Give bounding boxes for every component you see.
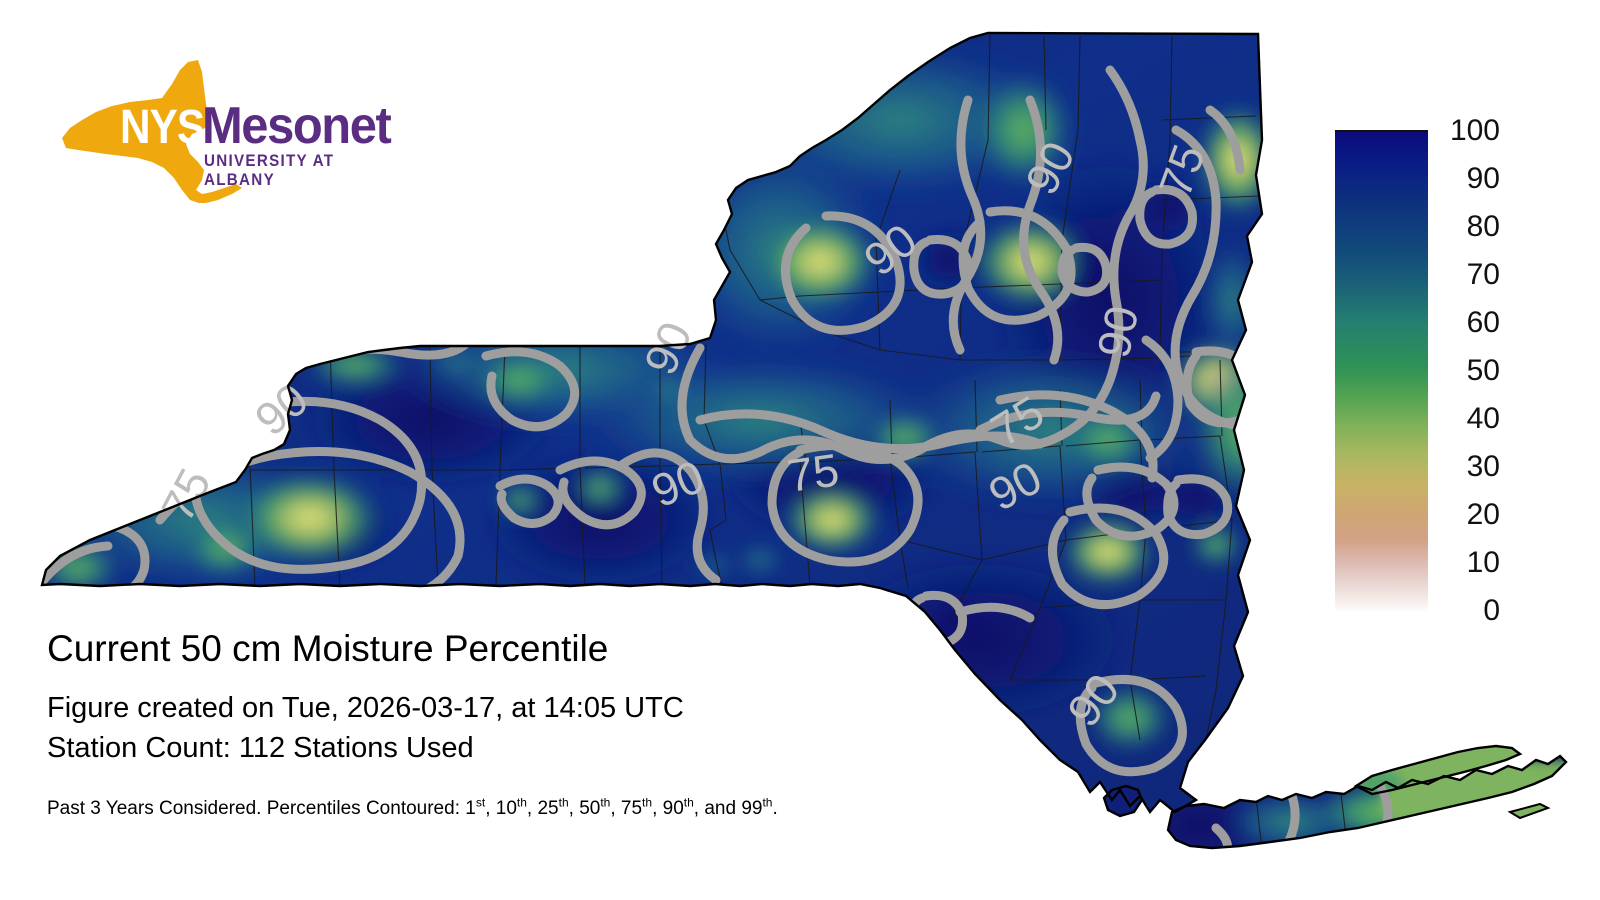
percentile-level-suffix: th	[684, 796, 694, 810]
percentile-level: 50	[579, 798, 600, 819]
caption-block: Current 50 cm Moisture Percentile Figure…	[47, 626, 1027, 822]
percentile-level-suffix: th	[559, 796, 569, 810]
percentile-level-suffix: th	[600, 796, 610, 810]
colorbar-tick: 100	[1434, 116, 1500, 146]
contour-note-prefix: Past 3 Years Considered. Percentiles Con…	[47, 798, 465, 819]
percentile-level-suffix: st	[476, 796, 485, 810]
colorbar-tick: 80	[1434, 212, 1500, 242]
colorbar-tick: 50	[1434, 356, 1500, 386]
offshore-island	[1510, 804, 1548, 818]
logo-subtitle: UNIVERSITY AT ALBANY	[204, 152, 395, 190]
percentile-level: 99	[741, 798, 762, 819]
percentile-level-suffix: th	[762, 796, 772, 810]
percentile-level-suffix: th	[642, 796, 652, 810]
percentile-level: 10	[496, 798, 517, 819]
figure-title: Current 50 cm Moisture Percentile	[47, 626, 1027, 672]
logo-word-nys: NYS	[120, 100, 204, 155]
figure-created-line: Figure created on Tue, 2026-03-17, at 14…	[47, 688, 1027, 728]
colorbar-gradient	[1335, 130, 1428, 612]
colorbar-tick: 30	[1434, 452, 1500, 482]
figure-canvas: 90 75 90 75 90 90 90 90 90 90 75 75 NYS	[0, 0, 1600, 900]
colorbar-tick: 10	[1434, 548, 1500, 578]
colorbar-tick: 20	[1434, 500, 1500, 530]
colorbar-tick: 90	[1434, 164, 1500, 194]
colorbar-tick: 60	[1434, 308, 1500, 338]
contour-note: Past 3 Years Considered. Percentiles Con…	[47, 796, 1027, 822]
logo-word-mesonet: Mesonet	[202, 96, 390, 156]
station-count-line: Station Count: 112 Stations Used	[47, 728, 1027, 768]
contour-label-75: 75	[784, 443, 842, 502]
nys-mesonet-logo: NYS Mesonet UNIVERSITY AT ALBANY	[52, 58, 412, 203]
colorbar-tick: 0	[1434, 596, 1500, 626]
colorbar-tick: 70	[1434, 260, 1500, 290]
percentile-level: 90	[663, 798, 684, 819]
colorbar-tick-labels: 100 90 80 70 60 50 40 30 20 10 0	[1434, 130, 1500, 610]
percentile-level-suffix: th	[517, 796, 527, 810]
contour-note-levels: 1st, 10th, 25th, 50th, 75th, 90th, and 9…	[465, 798, 772, 819]
percentile-level: 75	[621, 798, 642, 819]
contour-note-suffix: .	[772, 798, 777, 819]
percentile-level: 1	[465, 798, 476, 819]
colorbar: 100 90 80 70 60 50 40 30 20 10 0	[1335, 130, 1500, 610]
contour-label-90: 90	[1087, 301, 1149, 362]
percentile-level: 25	[537, 798, 558, 819]
colorbar-tick: 40	[1434, 404, 1500, 434]
